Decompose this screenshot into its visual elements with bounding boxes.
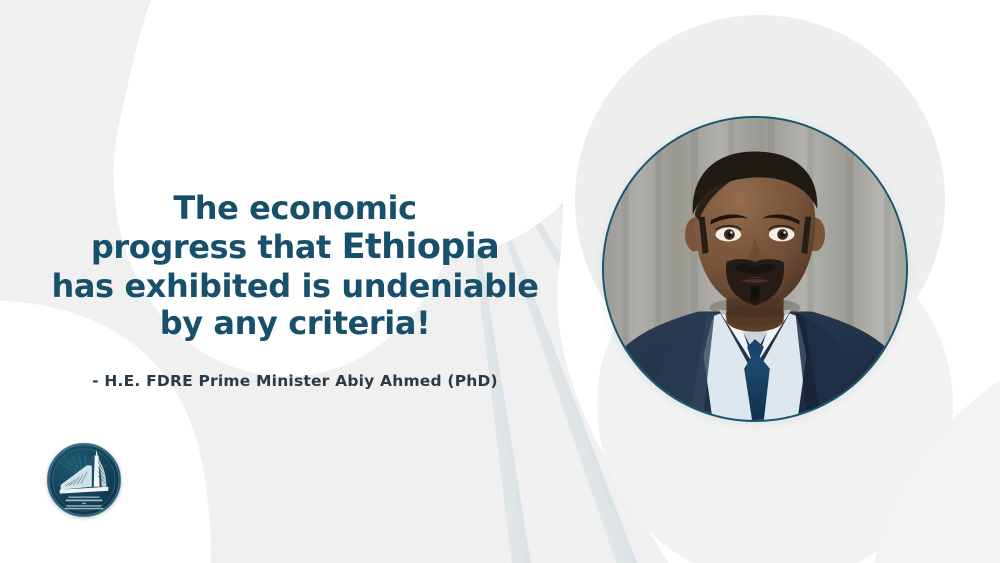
quote-line-2: progress that Ethiopia (40, 227, 550, 268)
building-icon (60, 450, 109, 494)
quote-line-4: by any criteria! (40, 305, 550, 342)
emblem-logo (47, 443, 121, 517)
quote-attribution: - H.E. FDRE Prime Minister Abiy Ahmed (P… (40, 372, 550, 390)
quote-line-1: The economic (40, 190, 550, 227)
quote-block: The economic progress that Ethiopia has … (40, 190, 550, 390)
logo-microtext (65, 497, 104, 510)
portrait-image (604, 118, 906, 420)
logo-mark (48, 444, 120, 516)
portrait-abiy-ahmed (602, 116, 908, 422)
quote-highlight-ethiopia: Ethiopia (342, 227, 499, 267)
quote-line-2-text: progress that (91, 228, 342, 266)
quote-poster: The economic progress that Ethiopia has … (0, 0, 1000, 563)
quote-line-3: has exhibited is undeniable (40, 268, 550, 305)
